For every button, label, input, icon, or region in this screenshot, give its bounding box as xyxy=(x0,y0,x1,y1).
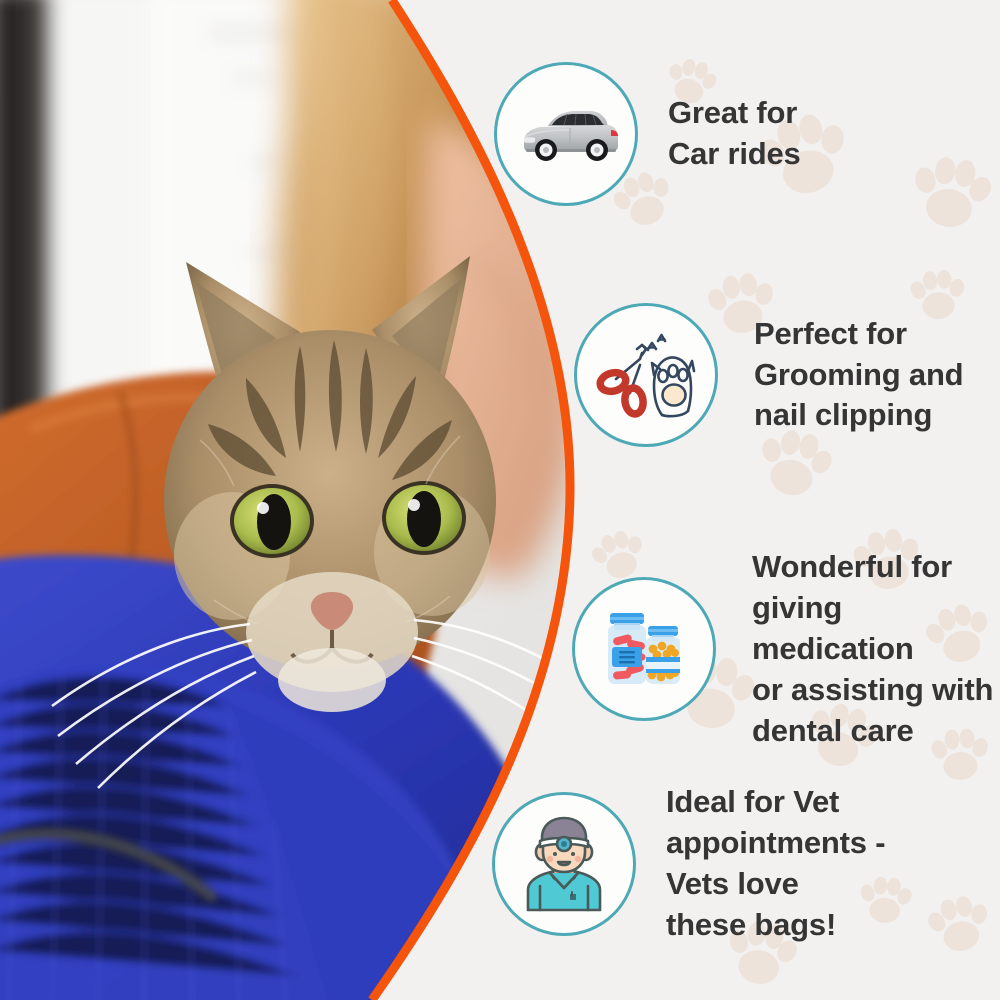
feature-grooming: Perfect for Grooming and nail clipping xyxy=(574,303,963,447)
feature-medication: Wonderful for giving medication or assis… xyxy=(572,547,1000,752)
infographic-stage: Great for Car rides xyxy=(0,0,1000,1000)
feature-car-rides: Great for Car rides xyxy=(494,62,801,206)
feature-label-medication: Wonderful for giving medication or assis… xyxy=(752,547,1000,752)
feature-label-vet: Ideal for Vet appointments - Vets love t… xyxy=(666,782,885,946)
feature-vet: Ideal for Vet appointments - Vets love t… xyxy=(492,782,885,946)
car-icon xyxy=(494,62,638,206)
feature-label-grooming: Perfect for Grooming and nail clipping xyxy=(754,314,963,437)
nail-clipper-paw-icon xyxy=(574,303,718,447)
veterinarian-icon xyxy=(492,792,636,936)
feature-label-car-rides: Great for Car rides xyxy=(668,93,801,175)
pill-bottles-icon xyxy=(572,577,716,721)
